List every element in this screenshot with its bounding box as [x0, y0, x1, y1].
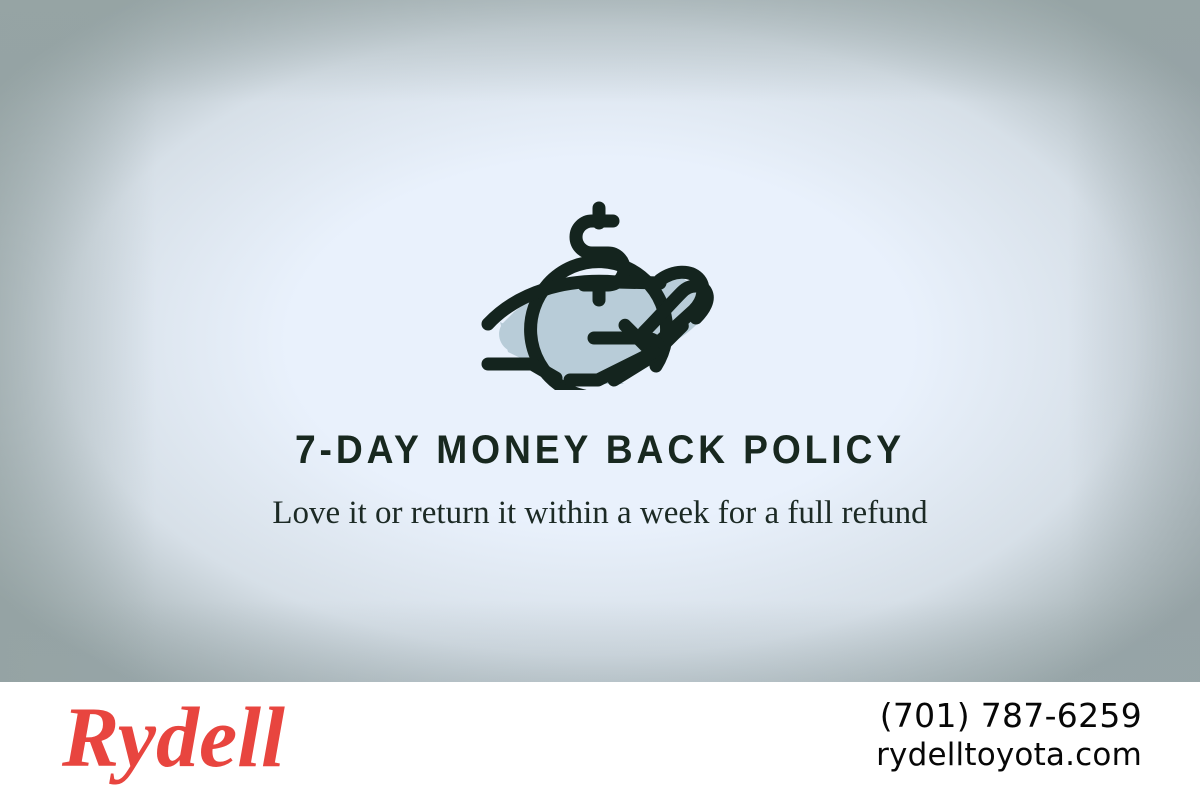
- website-url[interactable]: rydelltoyota.com: [876, 736, 1142, 776]
- promo-subtitle: Love it or return it within a week for a…: [250, 492, 950, 534]
- rydell-wordmark-icon: Rydell: [58, 696, 318, 788]
- page-title: 7-DAY MONEY BACK POLICY: [42, 428, 1158, 473]
- contact-block: (701) 787-6259 rydelltoyota.com: [876, 695, 1142, 776]
- rydell-wordmark-text: Rydell: [61, 696, 285, 785]
- promo-hero-panel: 7-DAY MONEY BACK POLICY Love it or retur…: [0, 0, 1200, 682]
- money-back-hand-icon: [474, 152, 726, 390]
- promo-card: 7-DAY MONEY BACK POLICY Love it or retur…: [0, 0, 1200, 800]
- rydell-logo[interactable]: Rydell: [58, 696, 318, 788]
- icon-container: [0, 152, 1200, 390]
- footer-bar: Rydell (701) 787-6259 rydelltoyota.com: [0, 682, 1200, 800]
- phone-number[interactable]: (701) 787-6259: [876, 695, 1142, 736]
